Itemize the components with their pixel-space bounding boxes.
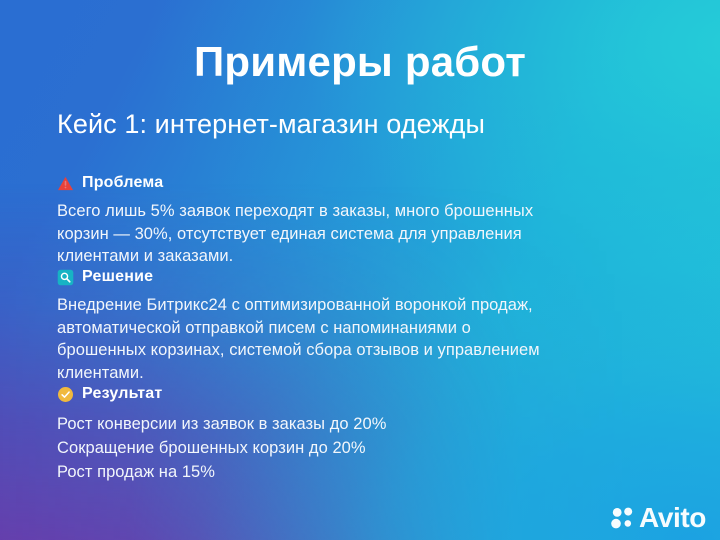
slide-canvas: Примеры работ Кейс 1: интернет-магазин о… [0, 0, 720, 540]
section-problem: Проблема Всего лишь 5% заявок переходят … [57, 172, 680, 268]
section-result-label: Результат [82, 385, 162, 403]
magnifier-search-icon [57, 269, 74, 286]
section-problem-header: Проблема [57, 172, 680, 194]
avito-dots-icon [611, 507, 635, 529]
body-line: автоматической отправкой писем с напомин… [57, 317, 657, 340]
result-line: Сокращение брошенных корзин до 20% [57, 437, 680, 461]
case-title: Кейс 1: интернет-магазин одежды [57, 108, 485, 140]
body-line: клиентами. [57, 362, 657, 385]
section-result: Результат Рост конверсии из заявок в зак… [57, 383, 680, 485]
body-line: Всего лишь 5% заявок переходят в заказы,… [57, 200, 657, 223]
warning-triangle-icon [57, 175, 74, 192]
section-result-body: Рост конверсии из заявок в заказы до 20%… [57, 413, 680, 485]
section-solution-label: Решение [82, 268, 153, 286]
section-problem-body: Всего лишь 5% заявок переходят в заказы,… [57, 200, 657, 268]
body-line: Внедрение Битрикс24 с оптимизированной в… [57, 294, 657, 317]
body-line: корзин — 30%, отсутствует единая система… [57, 223, 657, 246]
section-solution-header: Решение [57, 266, 680, 288]
body-line: брошенных корзинах, системой сбора отзыв… [57, 339, 657, 362]
avito-wordmark: Avito [639, 504, 706, 532]
slide-content: Примеры работ Кейс 1: интернет-магазин о… [0, 0, 720, 540]
body-line: клиентами и заказами. [57, 245, 657, 268]
check-circle-icon [57, 386, 74, 403]
section-solution-body: Внедрение Битрикс24 с оптимизированной в… [57, 294, 657, 384]
avito-watermark: Avito [611, 504, 706, 532]
result-line: Рост конверсии из заявок в заказы до 20% [57, 413, 680, 437]
section-result-header: Результат [57, 383, 680, 405]
section-solution: Решение Внедрение Битрикс24 с оптимизиро… [57, 266, 680, 384]
result-line: Рост продаж на 15% [57, 461, 680, 485]
page-title: Примеры работ [0, 40, 720, 85]
section-problem-label: Проблема [82, 174, 163, 192]
